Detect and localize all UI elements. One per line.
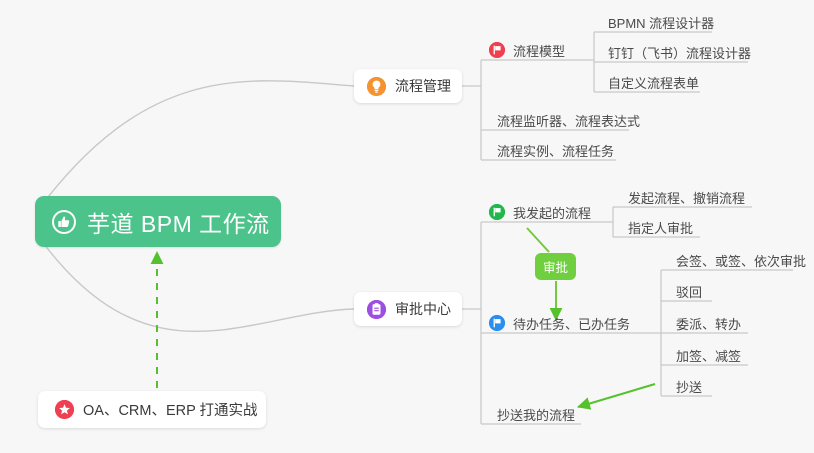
- node-label: BPMN 流程设计器: [608, 17, 714, 30]
- flag-icon: [489, 315, 505, 331]
- node-listener-expression[interactable]: 流程监听器、流程表达式: [490, 106, 647, 131]
- node-label: 流程实例、流程任务: [497, 145, 614, 158]
- node-label: OA、CRM、ERP 打通实战: [83, 399, 258, 420]
- node-assignee-approve[interactable]: 指定人审批: [621, 213, 700, 238]
- node-label: 流程模型: [513, 45, 565, 58]
- node-label: 抄送我的流程: [497, 409, 575, 422]
- node-custom-process-form[interactable]: 自定义流程表单: [601, 68, 706, 93]
- node-label: 流程监听器、流程表达式: [497, 115, 640, 128]
- flag-icon: [489, 204, 505, 220]
- relation-label-approve[interactable]: 审批: [535, 253, 576, 280]
- lightbulb-icon: [367, 77, 386, 96]
- branch-node-shenpi-zhongxin[interactable]: 审批中心: [354, 292, 462, 326]
- branch-node-liucheng-guanli[interactable]: 流程管理: [354, 69, 462, 103]
- node-cc-to-me[interactable]: 抄送我的流程: [490, 400, 582, 425]
- thumbs-up-icon: [52, 210, 76, 234]
- node-reject[interactable]: 驳回: [669, 277, 709, 302]
- node-instance-task[interactable]: 流程实例、流程任务: [490, 136, 621, 161]
- root-node[interactable]: 芋道 BPM 工作流: [35, 196, 281, 247]
- node-label: 抄送: [676, 381, 702, 394]
- node-label: 我发起的流程: [513, 207, 591, 220]
- node-my-initiated[interactable]: 我发起的流程: [486, 198, 598, 223]
- node-start-cancel[interactable]: 发起流程、撤销流程: [621, 183, 752, 208]
- node-label: 指定人审批: [628, 222, 693, 235]
- star-icon: [55, 400, 74, 419]
- mindmap-canvas: 芋道 BPM 工作流 流程管理 流程模型 流程监听器、流程表达式 流程实例、流: [0, 0, 814, 453]
- relation-label-text: 审批: [543, 257, 568, 276]
- node-label: 钉钉（飞书）流程设计器: [608, 47, 751, 60]
- node-countersign[interactable]: 会签、或签、依次审批: [669, 246, 813, 271]
- node-label: 会签、或签、依次审批: [676, 255, 806, 268]
- node-label: 待办任务、已办任务: [513, 318, 630, 331]
- node-label: 加签、减签: [676, 350, 741, 363]
- node-todo-done[interactable]: 待办任务、已办任务: [486, 309, 637, 334]
- node-bpmn-designer[interactable]: BPMN 流程设计器: [601, 8, 721, 33]
- flag-icon: [489, 42, 505, 58]
- node-dingtalk-feishu-designer[interactable]: 钉钉（飞书）流程设计器: [601, 38, 758, 63]
- branch-label: 流程管理: [395, 76, 451, 96]
- node-label: 驳回: [676, 286, 702, 299]
- node-label: 发起流程、撤销流程: [628, 192, 745, 205]
- node-add-remove-sign[interactable]: 加签、减签: [669, 341, 748, 366]
- clipboard-icon: [367, 300, 386, 319]
- node-cc[interactable]: 抄送: [669, 372, 709, 397]
- root-label: 芋道 BPM 工作流: [87, 205, 270, 239]
- branch-label: 审批中心: [395, 299, 451, 319]
- node-oa-crm-erp[interactable]: OA、CRM、ERP 打通实战: [38, 391, 266, 428]
- node-label: 委派、转办: [676, 318, 741, 331]
- node-label: 自定义流程表单: [608, 77, 699, 90]
- node-delegate-transfer[interactable]: 委派、转办: [669, 309, 748, 334]
- node-liucheng-moxing[interactable]: 流程模型: [486, 36, 572, 61]
